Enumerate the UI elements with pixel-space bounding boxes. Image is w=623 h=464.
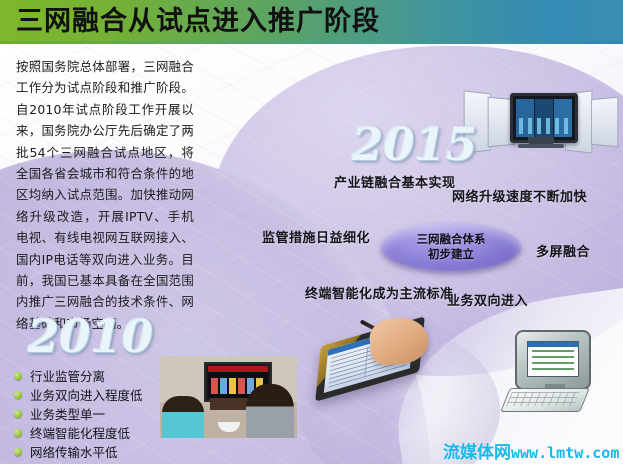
center-highlight-oval: 三网融合体系 初步建立 [381, 223, 521, 271]
desktop-computer-illustration [505, 330, 601, 422]
bullet-dot-icon [14, 448, 22, 456]
tv-app-icons [519, 118, 569, 134]
year-2010-label: 2010 [28, 310, 153, 363]
list-item: 业务双向进入程度低 [14, 385, 143, 404]
monitor-icon [515, 330, 591, 390]
watermark: 流媒体网www.lmtw.com [443, 438, 619, 463]
tv-base [518, 144, 564, 148]
center-oval-line1: 三网融合体系 [417, 232, 486, 247]
callout-terminal-smart: 终端智能化成为主流标准 [305, 283, 454, 302]
tablet-illustration [318, 318, 430, 394]
monitor-content-rows [532, 350, 574, 372]
side-screen-4 [591, 97, 618, 148]
keyboard-keys [506, 392, 580, 406]
slide-title-bar: 三网融合从试点进入推广阶段 [0, 0, 623, 44]
bullet-dot-icon [14, 391, 22, 399]
tv-set [510, 93, 578, 143]
year-2015-label: 2015 [352, 118, 477, 171]
person-left [162, 396, 204, 438]
bullet-label: 行业监管分离 [30, 366, 105, 385]
list-item: 业务类型单一 [14, 404, 143, 423]
slide-canvas: 三网融合从试点进入推广阶段 按照国务院总体部署，三网融合工作分为试点阶段和推广阶… [0, 0, 623, 464]
bullet-dot-icon [14, 372, 22, 380]
bullet-dot-icon [14, 410, 22, 418]
monitor-titlebar [528, 342, 578, 347]
callout-industry-chain: 产业链融合基本实现 [334, 172, 456, 191]
callout-two-way-business: 业务双向进入 [447, 290, 528, 309]
center-oval-text: 三网融合体系 初步建立 [417, 232, 486, 262]
list-item: 终端智能化程度低 [14, 423, 143, 442]
page-title: 三网融合从试点进入推广阶段 [16, 4, 380, 40]
bullet-dot-icon [14, 429, 22, 437]
bullet-label: 网络传输水平低 [30, 442, 118, 461]
tv-ui-topbar [208, 366, 268, 372]
past-state-bullet-list: 行业监管分离 业务双向进入程度低 业务类型单一 终端智能化程度低 网络传输水平低 [14, 366, 143, 461]
center-oval-line2: 初步建立 [417, 247, 486, 262]
callout-multi-screen: 多屏融合 [536, 241, 590, 260]
smart-tv-photo [462, 88, 620, 164]
intro-paragraph: 按照国务院总体部署，三网融合工作分为试点阶段和推广阶段。自2010年试点阶段工作… [16, 56, 194, 334]
list-item: 网络传输水平低 [14, 442, 143, 461]
family-watching-tv-photo [160, 356, 297, 438]
callout-regulation: 监管措施日益细化 [262, 227, 370, 246]
callout-network-upgrade: 网络升级速度不断加快 [452, 186, 587, 205]
list-item: 行业监管分离 [14, 366, 143, 385]
bullet-label: 终端智能化程度低 [30, 423, 130, 442]
watermark-url: www.lmtw.com [511, 444, 619, 462]
bullet-label: 业务类型单一 [30, 404, 105, 423]
monitor-screen [527, 341, 579, 377]
watermark-site-name: 流媒体网 [443, 443, 511, 463]
bullet-label: 业务双向进入程度低 [30, 385, 143, 404]
person-right [246, 384, 294, 438]
